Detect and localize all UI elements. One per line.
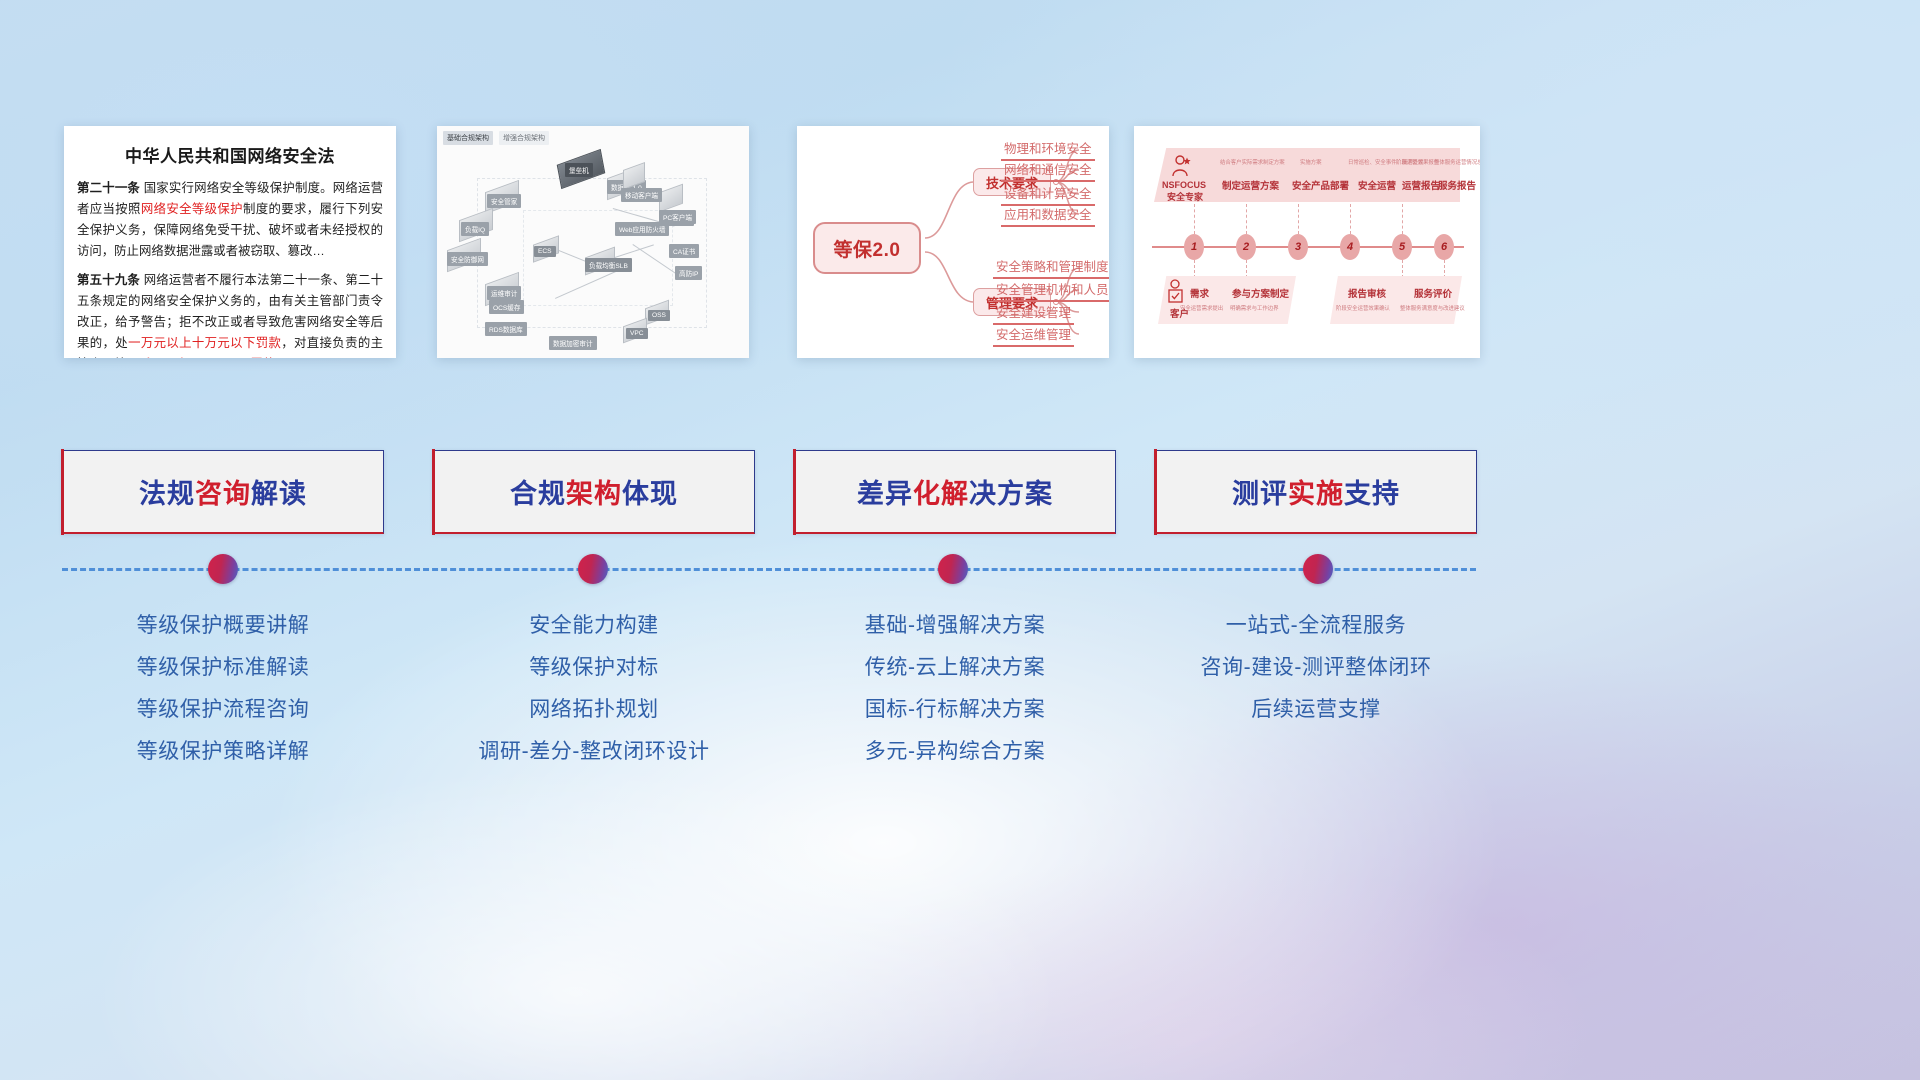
service-timeline: NSFOCUS 安全专家 结合客户实际需求制定方案 制定运营方案 实施方案 安全…	[1134, 126, 1480, 358]
arch-node-ops-audit: 运维审计	[485, 278, 519, 300]
arch-node-mobile-client: 移动客户端	[623, 166, 645, 186]
header-1-text: 法规咨询解读	[139, 472, 307, 511]
column-4-item-0[interactable]: 一站式-全流程服务	[1155, 605, 1477, 647]
column-3-item-1[interactable]: 传统-云上解决方案	[794, 647, 1116, 689]
arch-node-loadiq: 负载IQ	[459, 214, 493, 236]
timeline-node-1[interactable]: 1	[1184, 234, 1204, 260]
timeline-bottom-band-right	[1330, 276, 1462, 324]
mindmap-leaf-tech-3: 应用和数据安全	[1001, 204, 1095, 227]
timeline-stem-bot-1	[1246, 260, 1247, 278]
header-1-prefix: 法规	[139, 479, 195, 509]
service-timeline-card[interactable]: NSFOCUS 安全专家 结合客户实际需求制定方案 制定运营方案 实施方案 安全…	[1134, 126, 1480, 358]
column-2-item-1[interactable]: 等级保护对标	[433, 647, 755, 689]
timeline-node-4[interactable]: 4	[1340, 234, 1360, 260]
mindmap-root[interactable]: 等保2.0	[813, 222, 921, 274]
column-2-item-2[interactable]: 网络拓扑规划	[433, 689, 755, 731]
column-3-item-3[interactable]: 多元-异构综合方案	[794, 731, 1116, 773]
top-step-3-sub: 阶段运营效果报告	[1396, 158, 1439, 166]
mindmap-leaf-tech-0: 物理和环境安全	[1001, 138, 1095, 161]
law-59-run-3: 五千元以上五万元以下罚款。	[127, 357, 288, 358]
top-step-3-title: 运营报告	[1402, 178, 1440, 192]
mindmap-leaf-mgmt-0: 安全策略和管理制度	[993, 256, 1109, 279]
column-1-item-2[interactable]: 等级保护流程咨询	[62, 689, 384, 731]
arch-label-mobile-client: 移动客户端	[621, 188, 662, 202]
header-4-accent: 实施	[1288, 479, 1344, 509]
arch-label-ca: CA证书	[669, 244, 699, 258]
expert-person-glyph	[1170, 154, 1192, 178]
law-card-inner: 中华人民共和国网络安全法 第二十一条 国家实行网络安全等级保护制度。网络运营者应…	[64, 126, 396, 358]
header-3-accent: 化解	[913, 479, 969, 509]
arch-label-data-audit: 数据加密审计	[549, 336, 597, 350]
header-2-accent: 架构	[566, 479, 622, 509]
arch-node-oss: OSS	[645, 304, 669, 321]
header-1-accent: 咨询	[195, 479, 251, 509]
expert-icon	[1170, 154, 1192, 183]
timeline-node-2[interactable]: 2	[1236, 234, 1256, 260]
bottom-step-3-title: 服务评价	[1414, 286, 1452, 300]
top-step-4-title: 服务报告	[1438, 178, 1476, 192]
arch-label-vpc: VPC	[626, 328, 648, 339]
arch-label-ocs: OCS缓存	[489, 300, 524, 314]
timeline-node-5[interactable]: 5	[1392, 234, 1412, 260]
header-2-text: 合规架构体现	[510, 472, 678, 511]
timeline-stem-top-3	[1350, 204, 1351, 234]
timeline-stem-top-1	[1246, 204, 1247, 234]
header-box-2[interactable]: 合规架构体现	[433, 450, 755, 534]
column-3-item-0[interactable]: 基础-增强解决方案	[794, 605, 1116, 647]
top-step-2-title: 安全运营	[1358, 178, 1396, 192]
bottom-step-3-sub: 整体服务满意度与改进建议	[1400, 304, 1465, 312]
expert-role-line1: NSFOCUS	[1162, 180, 1206, 190]
timeline-stem-bot-3	[1444, 260, 1445, 278]
timeline-stem-top-0	[1194, 204, 1195, 234]
column-4: 一站式-全流程服务 咨询-建设-测评整体闭环 后续运营支撑	[1155, 605, 1477, 731]
header-4-text: 测评实施支持	[1232, 472, 1400, 511]
header-3-suffix: 决方案	[969, 479, 1053, 509]
mindmap-leaf-mgmt-2: 安全建设管理	[993, 302, 1074, 325]
header-box-1[interactable]: 法规咨询解读	[62, 450, 384, 534]
law-article-59-label: 第五十九条	[77, 273, 140, 287]
header-3-text: 差异化解决方案	[857, 472, 1053, 511]
architecture-tab-enhanced[interactable]: 增强合规架构	[499, 131, 549, 145]
top-step-0-title: 制定运营方案	[1222, 178, 1279, 192]
mindmap-leaf-mgmt-3: 安全运维管理	[993, 324, 1074, 347]
top-step-1-sub: 实施方案	[1300, 158, 1322, 166]
arch-label-pc-client: PC客户端	[659, 210, 696, 224]
arch-label-bastion: 堡垒机	[565, 163, 593, 177]
law-paragraph-59: 第五十九条 网络运营者不履行本法第二十一条、第二十五条规定的网络安全保护义务的，…	[77, 270, 383, 358]
timeline-knob-4[interactable]	[1303, 554, 1333, 584]
mindmap-card[interactable]: 等保2.0 技术要求 管理要求 物理和环境安全 网络和通信安全 设备和计算安全 …	[797, 126, 1109, 358]
customer-person-glyph	[1166, 278, 1186, 304]
arch-node-bastion: 堡垒机	[559, 156, 603, 182]
timeline-node-6[interactable]: 6	[1434, 234, 1454, 260]
column-4-item-1[interactable]: 咨询-建设-测评整体闭环	[1155, 647, 1477, 689]
expert-role-line2: 安全专家	[1167, 190, 1203, 203]
bottom-step-0-title: 需求	[1190, 286, 1209, 300]
mindmap-leaf-mgmt-1: 安全管理机构和人员	[993, 279, 1109, 302]
column-2-item-0[interactable]: 安全能力构建	[433, 605, 755, 647]
timeline-stem-top-2	[1298, 204, 1299, 234]
column-1-item-3[interactable]: 等级保护策略详解	[62, 731, 384, 773]
header-2-prefix: 合规	[510, 479, 566, 509]
arch-label-rds: RDS数据库	[485, 322, 527, 336]
header-1-suffix: 解读	[251, 479, 307, 509]
law-article-21-label: 第二十一条	[77, 181, 140, 195]
bottom-step-1-sub: 明确需求与工作边界	[1230, 304, 1279, 312]
header-4-prefix: 测评	[1232, 479, 1288, 509]
header-box-3[interactable]: 差异化解决方案	[794, 450, 1116, 534]
column-3: 基础-增强解决方案 传统-云上解决方案 国标-行标解决方案 多元-异构综合方案	[794, 605, 1116, 773]
mindmap-leaf-tech-1: 网络和通信安全	[1001, 159, 1095, 182]
law-59-run-1: 一万元以上十万元以下罚款	[128, 336, 281, 350]
law-card[interactable]: 中华人民共和国网络安全法 第二十一条 国家实行网络安全等级保护制度。网络运营者应…	[64, 126, 396, 358]
slide-stage: 中华人民共和国网络安全法 第二十一条 国家实行网络安全等级保护制度。网络运营者应…	[0, 0, 1920, 1080]
law-card-title: 中华人民共和国网络安全法	[64, 142, 396, 167]
arch-node-vpc: VPC	[623, 322, 647, 339]
architecture-card[interactable]: 基础合规架构 增强合规架构 堡垒机 安全管家 负	[437, 126, 749, 358]
architecture-tab-basic[interactable]: 基础合规架构	[443, 131, 493, 145]
column-1-item-0[interactable]: 等级保护概要讲解	[62, 605, 384, 647]
column-1: 等级保护概要讲解 等级保护标准解读 等级保护流程咨询 等级保护策略详解	[62, 605, 384, 773]
header-3-prefix: 差异	[857, 479, 913, 509]
timeline-knob-2[interactable]	[578, 554, 608, 584]
arch-label-loadiq: 负载IQ	[461, 222, 489, 236]
timeline-stem-bot-2	[1402, 260, 1403, 278]
arch-label-security-butler: 安全管家	[487, 194, 521, 208]
arch-label-ops-audit: 运维审计	[487, 286, 521, 300]
column-2-item-3[interactable]: 调研-差分-整改闭环设计	[433, 731, 755, 773]
timeline-knob-1[interactable]	[208, 554, 238, 584]
arch-label-antiddos: 高防IP	[675, 266, 702, 280]
header-box-4[interactable]: 测评实施支持	[1155, 450, 1477, 534]
arch-node-ecs: ECS	[533, 240, 559, 258]
timeline-stem-top-4	[1402, 204, 1403, 234]
timeline-rail	[62, 568, 1476, 571]
arch-label-oss: OSS	[648, 310, 670, 321]
arch-node-pc-client: PC客户端	[659, 188, 683, 208]
header-2-suffix: 体现	[622, 479, 678, 509]
arch-label-ecs: ECS	[534, 246, 556, 257]
column-4-item-2[interactable]: 后续运营支撑	[1155, 689, 1477, 731]
top-step-0-sub: 结合客户实际需求制定方案	[1220, 158, 1285, 166]
law-paragraph-21: 第二十一条 国家实行网络安全等级保护制度。网络运营者应当按照网络安全等级保护制度…	[77, 178, 383, 262]
mindmap-leaf-tech-2: 设备和计算安全	[1001, 183, 1095, 206]
bottom-step-2-sub: 阶段安全运营效果确认	[1336, 304, 1390, 312]
architecture-diagram: 基础合规架构 增强合规架构 堡垒机 安全管家 负	[437, 126, 749, 358]
header-4-suffix: 支持	[1344, 479, 1400, 509]
arch-label-defense-net: 安全防御网	[447, 252, 488, 266]
timeline-knob-3[interactable]	[938, 554, 968, 584]
column-2: 安全能力构建 等级保护对标 网络拓扑规划 调研-差分-整改闭环设计	[433, 605, 755, 773]
arch-node-slb: 负载均衡SLB	[585, 252, 615, 270]
timeline-stem-bot-0	[1194, 260, 1195, 278]
arch-box-mobile-client	[623, 162, 645, 190]
bottom-step-0-sub: 安全运营需求提出	[1180, 304, 1223, 312]
timeline-node-3[interactable]: 3	[1288, 234, 1308, 260]
column-3-item-2[interactable]: 国标-行标解决方案	[794, 689, 1116, 731]
bottom-step-2-title: 报告审核	[1348, 286, 1386, 300]
column-1-item-1[interactable]: 等级保护标准解读	[62, 647, 384, 689]
mindmap: 等保2.0 技术要求 管理要求 物理和环境安全 网络和通信安全 设备和计算安全 …	[797, 126, 1109, 358]
bottom-step-1-title: 参与方案制定	[1232, 286, 1289, 300]
law-21-run-1: 网络安全等级保护	[141, 202, 243, 216]
arch-label-slb: 负载均衡SLB	[585, 258, 632, 272]
architecture-tabs[interactable]: 基础合规架构 增强合规架构	[443, 131, 549, 145]
arch-node-defense-net: 安全防御网	[447, 244, 481, 266]
top-step-4-sub: 整体服务运营情况总结报告	[1434, 158, 1480, 166]
top-step-1-title: 安全产品部署	[1292, 178, 1349, 192]
arch-node-security-butler: 安全管家	[485, 186, 519, 208]
